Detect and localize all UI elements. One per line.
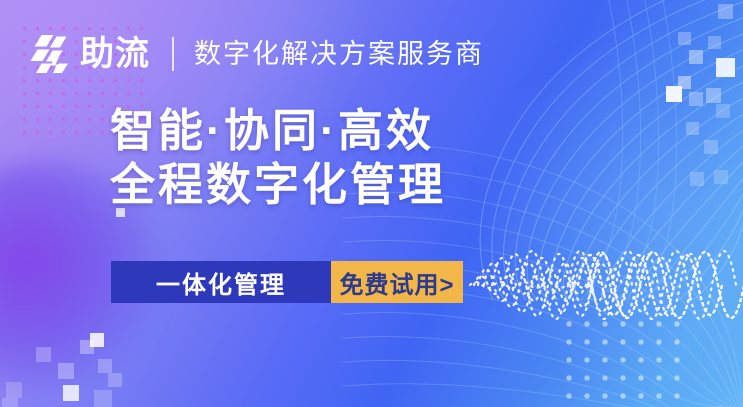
brand-divider: [172, 37, 174, 71]
brand-tagline: 数字化解决方案服务商: [194, 41, 484, 68]
brand-name: 助流: [80, 37, 150, 71]
integrated-management-button[interactable]: 一体化管理: [111, 261, 331, 303]
brand-row: 助流 数字化解决方案服务商: [28, 30, 484, 78]
free-trial-button[interactable]: 免费试用>: [331, 261, 463, 303]
lightning-bolt-logo-icon: [28, 32, 72, 76]
promo-banner: 助流 数字化解决方案服务商 智能·协同·高效 全程数字化管理 一体化管理 免费试…: [0, 0, 743, 407]
headline-line-2: 全程数字化管理: [110, 158, 630, 212]
cta-row: 一体化管理 免费试用>: [111, 261, 463, 303]
headline-line-1: 智能·协同·高效: [110, 104, 630, 158]
headline: 智能·协同·高效 全程数字化管理: [110, 104, 630, 212]
